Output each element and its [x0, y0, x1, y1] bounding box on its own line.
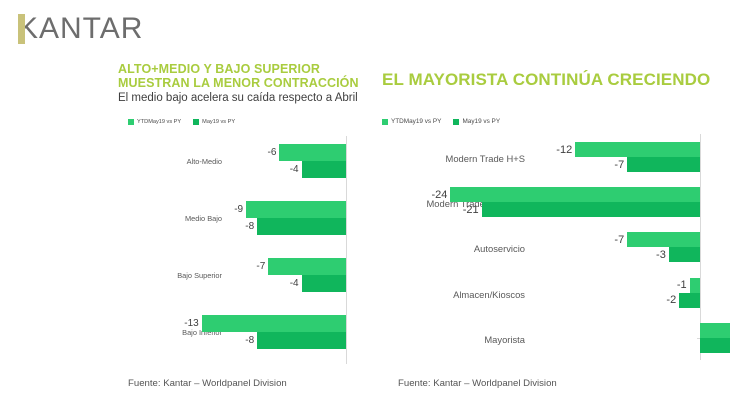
- bar-ytd: [202, 315, 346, 332]
- bar-value-label: -12: [556, 144, 572, 156]
- bar-may: [482, 202, 700, 217]
- left-chart-title-line2: MUESTRAN LA MENOR CONTRACCIÓN: [118, 76, 368, 90]
- category-label: Medio Bajo: [185, 214, 222, 223]
- category-label: Alto-Medio: [187, 157, 222, 166]
- bar-ytd: [450, 187, 700, 202]
- bar-ytd: [700, 323, 730, 338]
- bar-value-label: -4: [290, 164, 299, 176]
- bar-may: [257, 332, 346, 349]
- bar-ytd: [690, 278, 700, 293]
- bar-may: [679, 293, 700, 308]
- right-chart-panel: EL MAYORISTA CONTINÚA CRECIENDO YTDMay19…: [380, 0, 725, 410]
- bar-ytd: [627, 232, 700, 247]
- category-label: Bajo Superior: [177, 271, 222, 280]
- legend-swatch-may-icon: [453, 119, 459, 125]
- legend-swatch-may-icon: [193, 119, 199, 125]
- bar-value-label: -1: [677, 279, 687, 291]
- bar-value-label: -4: [290, 278, 299, 290]
- legend-swatch-ytd-icon: [128, 119, 134, 125]
- legend-label-may: May19 vs PY: [202, 119, 235, 125]
- category-label: Autoservicio: [474, 243, 525, 254]
- bar-may: [302, 161, 346, 178]
- left-chart-title-line1: ALTO+MEDIO Y BAJO SUPERIOR: [118, 62, 368, 76]
- bar-value-label: -2: [666, 294, 676, 306]
- legend-label-may: May19 vs PY: [462, 118, 500, 125]
- legend-item-may: May19 vs PY: [453, 118, 500, 125]
- bar-may: [257, 218, 346, 235]
- right-chart-source: Fuente: Kantar – Worldpanel Division: [398, 378, 557, 389]
- bar-value-label: -7: [256, 261, 265, 273]
- category-label: Modern Trade H+S: [446, 153, 525, 164]
- category-label: Mayorista: [484, 334, 525, 345]
- bar-value-label: -7: [614, 234, 624, 246]
- legend-item-may: May19 vs PY: [193, 119, 235, 125]
- left-bar-chart: Alto-Medio-6-4Medio Bajo-9-8Bajo Superio…: [110, 136, 375, 364]
- bar-value-label: -6: [268, 147, 277, 159]
- legend-label-ytd: YTDMay19 vs PY: [137, 119, 181, 125]
- left-chart-subtitle: El medio bajo acelera su caída respecto …: [118, 92, 370, 105]
- legend-item-ytd: YTDMay19 vs PY: [382, 118, 441, 125]
- right-chart-legend: YTDMay19 vs PY May19 vs PY: [382, 118, 500, 125]
- logo-accent-bar: [18, 14, 25, 44]
- left-chart-source: Fuente: Kantar – Worldpanel Division: [128, 378, 287, 389]
- value-axis: [346, 136, 347, 364]
- legend-swatch-ytd-icon: [382, 119, 388, 125]
- bar-value-label: -8: [245, 335, 254, 347]
- right-chart-title: EL MAYORISTA CONTINÚA CRECIENDO: [382, 70, 722, 89]
- right-bar-chart: Modern Trade H+S-12-7Modern Trade Cercan…: [380, 134, 725, 360]
- bar-value-label: -24: [432, 189, 448, 201]
- bar-may: [302, 275, 346, 292]
- bar-ytd: [246, 201, 346, 218]
- left-chart-legend: YTDMay19 vs PY May19 vs PY: [128, 119, 235, 125]
- bar-value-label: -7: [614, 159, 624, 171]
- legend-label-ytd: YTDMay19 vs PY: [391, 118, 441, 125]
- bar-value-label: -3: [656, 249, 666, 261]
- legend-item-ytd: YTDMay19 vs PY: [128, 119, 181, 125]
- bar-may: [700, 338, 730, 353]
- category-label: Almacen/Kioscos: [453, 289, 525, 300]
- bar-value-label: -13: [184, 318, 198, 330]
- bar-ytd: [279, 144, 346, 161]
- bar-value-label: -9: [234, 204, 243, 216]
- bar-may: [669, 247, 700, 262]
- bar-may: [627, 157, 700, 172]
- left-chart-title: ALTO+MEDIO Y BAJO SUPERIOR MUESTRAN LA M…: [118, 62, 368, 90]
- bar-value-label: -21: [463, 204, 479, 216]
- left-chart-panel: ALTO+MEDIO Y BAJO SUPERIOR MUESTRAN LA M…: [110, 0, 375, 410]
- bar-ytd: [575, 142, 700, 157]
- bar-ytd: [268, 258, 346, 275]
- bar-value-label: -8: [245, 221, 254, 233]
